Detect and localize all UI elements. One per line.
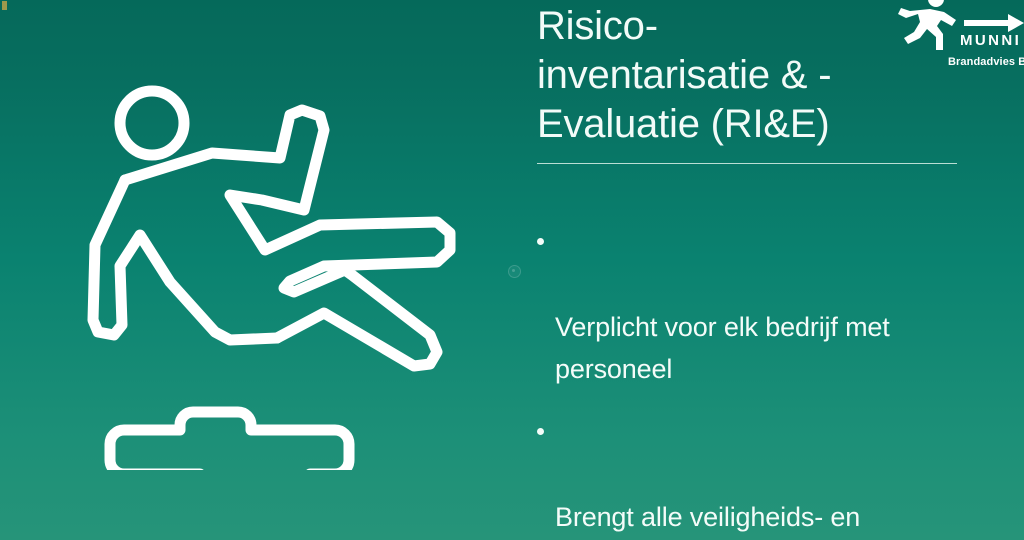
- list-item-label: Verplicht voor elk bedrijf met personeel: [555, 312, 890, 384]
- bullet-dot-icon: [537, 428, 544, 435]
- arrow-right-icon: [964, 12, 1024, 34]
- title-divider: [537, 163, 957, 164]
- placeholder-handle-icon[interactable]: [508, 265, 521, 278]
- bullet-dot-icon: [537, 238, 544, 245]
- figure-head: [120, 91, 184, 155]
- logo-tagline: Brandadvies B: [948, 56, 1024, 68]
- slide-content-column: Risico- inventarisatie & - Evaluatie (RI…: [537, 0, 1007, 540]
- figure-torso-lower: [93, 180, 277, 340]
- presentation-slide: Risico- inventarisatie & - Evaluatie (RI…: [0, 0, 1024, 540]
- company-logo: MUNNI Brandadvies B: [892, 0, 1024, 78]
- puddle: [110, 412, 349, 470]
- running-man-emergency-exit-icon: [894, 0, 960, 54]
- list-item: Verplicht voor elk bedrijf met personeel: [537, 222, 957, 390]
- bullet-list: Verplicht voor elk bedrijf met personeel…: [537, 222, 957, 540]
- slip-and-fall-hazard-icon: [62, 70, 482, 470]
- list-item: Brengt alle veiligheids- en gezondheidsr…: [537, 412, 957, 540]
- logo-wordmark: MUNNI: [960, 32, 1021, 49]
- list-item-label: Brengt alle veiligheids- en gezondheidsr…: [555, 502, 882, 540]
- corner-artifact: [2, 1, 7, 10]
